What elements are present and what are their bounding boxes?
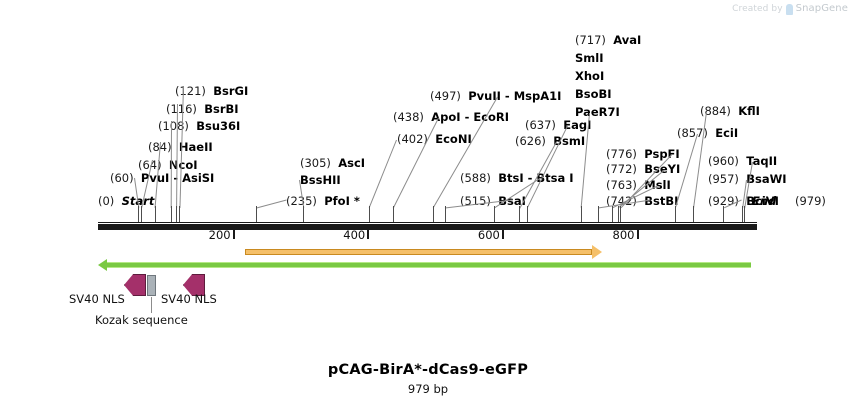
enzyme-name: ApoI - EcoRI <box>431 110 509 124</box>
enzyme-label[interactable]: BsoBI <box>575 89 612 101</box>
enzyme-name: PvuII - MspA1I <box>468 89 561 103</box>
enzyme-label[interactable]: (960) TaqII <box>708 156 777 168</box>
enzyme-label[interactable]: PaeR7I <box>575 107 620 119</box>
enzyme-position: (637) <box>525 118 556 132</box>
enzyme-position: (108) <box>158 119 189 133</box>
watermark-prefix: Created by <box>732 4 783 14</box>
restriction-site-tick[interactable] <box>675 206 676 222</box>
enzyme-label[interactable]: (776) PspFI <box>606 149 680 161</box>
restriction-site-tick[interactable] <box>393 206 394 222</box>
orange-cds-arrowhead <box>592 245 602 259</box>
restriction-site-tick[interactable] <box>693 206 694 222</box>
enzyme-position: (960) <box>708 154 739 168</box>
orange-cds-arrow[interactable] <box>245 249 592 255</box>
restriction-site-tick[interactable] <box>620 206 621 222</box>
restriction-site-tick[interactable] <box>445 206 446 222</box>
enzyme-label[interactable]: (402) EcoNI <box>397 134 472 146</box>
kozak-leader-line <box>151 297 152 313</box>
enzyme-label[interactable]: SmlI <box>575 53 604 65</box>
restriction-site-tick[interactable] <box>618 206 619 222</box>
restriction-site-tick[interactable] <box>141 206 142 222</box>
restriction-site-tick[interactable] <box>171 206 172 222</box>
enzyme-leader-line <box>171 121 172 208</box>
ruler-tick-mark <box>233 230 235 239</box>
ruler-tick-label: 800 <box>613 230 637 242</box>
enzyme-position: (979) <box>795 194 826 208</box>
enzyme-position: (772) <box>606 162 637 176</box>
enzyme-label[interactable]: (438) ApoI - EcoRI <box>393 112 509 124</box>
enzyme-name: Bsu36I <box>196 119 240 133</box>
ruler-tick-label: 200 <box>209 230 233 242</box>
enzyme-label[interactable]: (857) EciI <box>677 128 738 140</box>
restriction-site-tick[interactable] <box>155 206 156 222</box>
feature-label-sv40-nls-right: SV40 NLS <box>161 294 217 306</box>
enzyme-leader-line <box>369 140 397 208</box>
enzyme-label[interactable]: (772) BseYI <box>606 164 680 176</box>
enzyme-label[interactable]: XhoI <box>575 71 604 83</box>
snapgene-watermark: Created by SnapGene <box>732 3 848 14</box>
ruler-tick-label: 400 <box>343 230 367 242</box>
enzyme-label[interactable]: BssHII <box>300 175 341 187</box>
sequence-backbone <box>98 223 757 230</box>
restriction-site-tick[interactable] <box>598 206 599 222</box>
restriction-site-tick[interactable] <box>519 206 520 222</box>
enzyme-label[interactable]: (235) PfoI * <box>286 196 360 208</box>
enzyme-leader-line <box>257 200 287 209</box>
enzyme-label[interactable]: (305) AscI <box>300 158 365 170</box>
enzyme-name: KflI <box>738 104 760 118</box>
enzyme-position: (497) <box>430 89 461 103</box>
enzyme-label[interactable]: End <box>752 196 776 208</box>
restriction-site-tick[interactable] <box>723 206 724 222</box>
enzyme-name: BssHII <box>300 173 341 187</box>
enzyme-label[interactable]: (60) PvuI - AsiSI <box>110 173 214 185</box>
enzyme-position: (0) <box>98 194 114 208</box>
plasmid-name: pCAG-BirA*-dCas9-eGFP <box>0 362 856 378</box>
restriction-site-tick[interactable] <box>744 206 745 222</box>
enzyme-label[interactable]: (626) BsmI <box>515 136 585 148</box>
enzyme-name: AvaI <box>613 33 641 47</box>
enzyme-name: EciI <box>715 126 738 140</box>
enzyme-label[interactable]: (0) Start <box>98 196 154 208</box>
restriction-site-tick[interactable] <box>581 206 582 222</box>
enzyme-name: SmlI <box>575 51 604 65</box>
enzyme-name: NcoI <box>169 158 198 172</box>
enzyme-position: (438) <box>393 110 424 124</box>
enzyme-position: (763) <box>606 178 637 192</box>
enzyme-name: EcoNI <box>435 132 471 146</box>
feature-label-kozak-sequence: Kozak sequence <box>95 315 188 327</box>
feature-label-sv40-nls-left: SV40 NLS <box>69 294 125 306</box>
restriction-site-tick[interactable] <box>433 206 434 222</box>
restriction-site-tick[interactable] <box>742 206 743 222</box>
enzyme-label[interactable]: (121) BsrGI <box>175 86 248 98</box>
enzyme-name: BsrGI <box>213 84 248 98</box>
enzyme-position: (402) <box>397 132 428 146</box>
restriction-site-tick[interactable] <box>527 206 528 222</box>
enzyme-leader-line <box>176 104 178 208</box>
restriction-site-tick[interactable] <box>369 206 370 222</box>
enzyme-name: PvuI - AsiSI <box>141 171 214 185</box>
enzyme-label[interactable]: (588) BtsI - Btsa I <box>460 173 574 185</box>
enzyme-label[interactable]: (979) <box>795 196 826 208</box>
green-orf-arrowhead <box>98 259 107 271</box>
enzyme-position: (60) <box>110 171 134 185</box>
enzyme-position: (957) <box>708 172 739 186</box>
enzyme-name: PspFI <box>644 147 679 161</box>
enzyme-name: End <box>752 194 776 208</box>
plasmid-size: 979 bp <box>0 382 856 396</box>
restriction-site-tick[interactable] <box>494 206 495 222</box>
restriction-site-tick[interactable] <box>179 206 180 222</box>
enzyme-label[interactable]: (884) KflI <box>700 106 760 118</box>
green-orf-arrow[interactable] <box>107 262 751 268</box>
enzyme-position: (121) <box>175 84 206 98</box>
enzyme-label[interactable]: (637) EagI <box>525 120 591 132</box>
enzyme-name: HaeII <box>179 140 213 154</box>
restriction-site-tick[interactable] <box>138 206 139 222</box>
restriction-site-tick[interactable] <box>612 206 613 222</box>
enzyme-label[interactable]: (64) NcoI <box>138 160 198 172</box>
ruler-tick-label: 600 <box>478 230 502 242</box>
enzyme-position: (588) <box>460 171 491 185</box>
ruler-tick-mark <box>502 230 504 239</box>
restriction-site-tick[interactable] <box>256 206 257 222</box>
enzyme-position: (626) <box>515 134 546 148</box>
enzyme-name: PfoI * <box>324 194 360 208</box>
feature-kozak-sequence[interactable] <box>147 275 156 296</box>
enzyme-name: PaeR7I <box>575 105 620 119</box>
restriction-site-tick[interactable] <box>303 206 304 222</box>
watermark-brand: SnapGene <box>796 3 848 14</box>
ruler-tick-mark <box>367 230 369 239</box>
snapgene-map-canvas: Created by SnapGene (717) AvaISmlIXhoIBs… <box>0 0 856 403</box>
enzyme-name: XhoI <box>575 69 604 83</box>
snapgene-logo-icon <box>786 4 793 15</box>
enzyme-label[interactable]: (717) AvaI <box>575 35 641 47</box>
enzyme-position: (717) <box>575 33 606 47</box>
enzyme-name: AscI <box>338 156 365 170</box>
enzyme-name: BsoBI <box>575 87 612 101</box>
enzyme-position: (776) <box>606 147 637 161</box>
feature-sv40-nls-left[interactable] <box>124 274 146 296</box>
enzyme-name: BsaWI <box>746 172 786 186</box>
ruler-tick-mark <box>637 230 639 239</box>
enzyme-name: BsrBI <box>204 102 238 116</box>
enzyme-name: BstBI <box>644 194 678 208</box>
restriction-site-tick[interactable] <box>176 206 177 222</box>
enzyme-position: (305) <box>300 156 331 170</box>
